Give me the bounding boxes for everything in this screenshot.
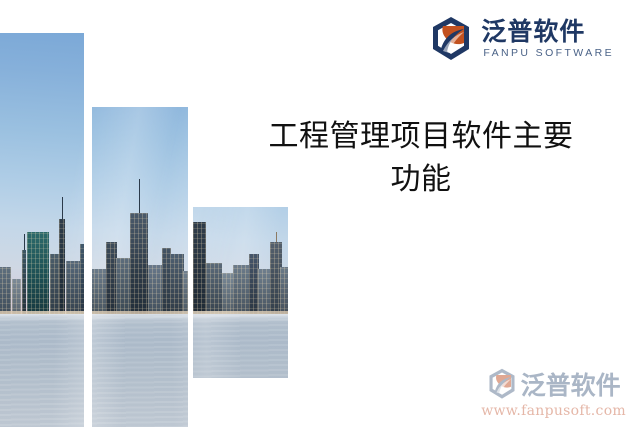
skyline-panel-right <box>191 205 290 380</box>
brand-text: 泛普软件 FANPU SOFTWARE <box>481 19 614 59</box>
slide-title-line-2: 功能 <box>391 162 452 197</box>
slide-canvas: 泛普软件 FANPU SOFTWARE 工程管理项目软件主要 功能 泛普软件 w… <box>0 0 640 427</box>
skyline-photo <box>191 205 288 380</box>
water-reflection <box>191 314 288 380</box>
brand-name-en: FANPU SOFTWARE <box>481 48 614 59</box>
water-reflection <box>90 314 190 427</box>
slide-title: 工程管理项目软件主要 功能 <box>222 116 620 201</box>
slide-title-line-1: 工程管理项目软件主要 <box>269 119 574 154</box>
watermark-name-cn: 泛普软件 <box>521 366 621 402</box>
skyline-photo <box>0 33 86 427</box>
brand-name-cn: 泛普软件 <box>481 19 614 44</box>
skyline-photo <box>90 105 190 427</box>
watermark-row: 泛普软件 <box>487 366 621 402</box>
skyline-buildings <box>0 211 86 314</box>
skyline-collage <box>0 0 300 427</box>
watermark: 泛普软件 www.fanpusoft.com <box>481 366 626 419</box>
skyline-panel-middle <box>90 105 190 427</box>
water-reflection <box>0 314 86 427</box>
brand-logo: 泛普软件 FANPU SOFTWARE <box>430 16 614 62</box>
skyline-buildings <box>191 211 288 314</box>
fanpu-hexagon-logo-icon <box>430 16 472 62</box>
watermark-url: www.fanpusoft.com <box>481 403 626 419</box>
skyline-panel-left <box>0 31 86 427</box>
fanpu-hexagon-logo-icon <box>487 368 517 400</box>
skyline-buildings <box>90 211 190 314</box>
